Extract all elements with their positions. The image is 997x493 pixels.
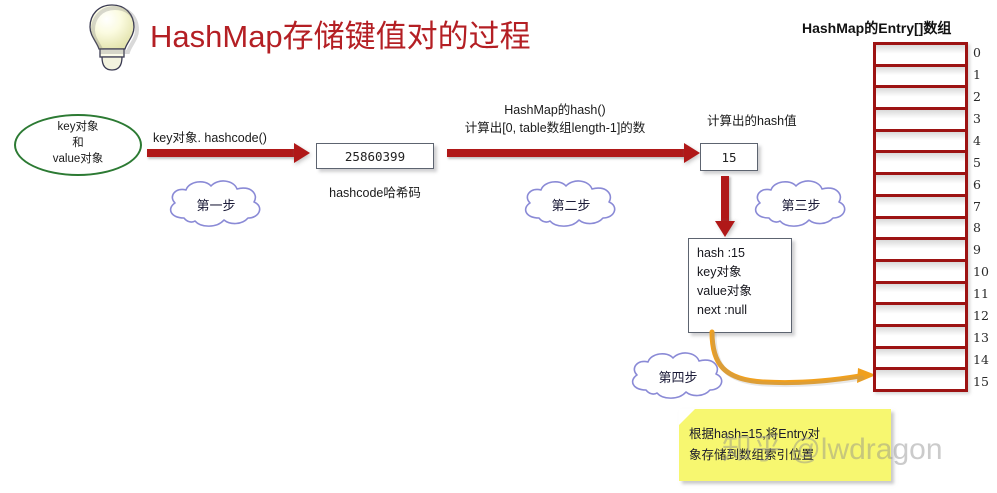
array-index: 8 [973, 217, 995, 239]
array-cell[interactable] [876, 110, 965, 132]
entry-line-key: key对象 [697, 263, 791, 282]
entry-line-value: value对象 [697, 282, 791, 301]
arrow-hashcode-shaft [147, 149, 295, 157]
array-cell[interactable] [876, 219, 965, 241]
array-cell[interactable] [876, 305, 965, 327]
arrow-entry-head [715, 221, 735, 237]
array-index: 5 [973, 151, 995, 173]
array-index: 15 [973, 370, 995, 392]
array-index: 0 [973, 42, 995, 64]
key-value-node-label: key对象 和 value对象 [14, 119, 142, 167]
kv-line-1: key对象 [14, 119, 142, 135]
diagram-canvas: HashMap存储键值对的过程 key对象 和 value对象 key对象. h… [0, 0, 997, 493]
array-index-column: 0 1 2 3 4 5 6 7 8 9 10 11 12 13 14 15 [973, 42, 995, 392]
step-3-label: 第三步 [745, 195, 857, 214]
array-cell[interactable] [876, 88, 965, 110]
step-2-label: 第二步 [515, 195, 627, 214]
step-3-cloud: 第三步 [745, 178, 857, 230]
sticky-note: 根据hash=15,将Entry对 象存储到数组索引位置 [679, 409, 891, 481]
array-index: 1 [973, 64, 995, 86]
array-index: 3 [973, 108, 995, 130]
kv-line-2: 和 [14, 135, 142, 151]
arrow-hash-shaft [447, 149, 685, 157]
arrow-store-to-array [660, 320, 890, 400]
array-cell[interactable] [876, 327, 965, 349]
entry-array [873, 42, 968, 392]
arrow-entry-shaft [721, 176, 729, 222]
array-cell[interactable] [876, 284, 965, 306]
array-index: 12 [973, 305, 995, 327]
hash-value-box: 15 [700, 143, 758, 171]
sticky-note-text: 根据hash=15,将Entry对 象存储到数组索引位置 [689, 424, 881, 466]
entry-line-hash: hash :15 [697, 244, 791, 263]
array-cell[interactable] [876, 153, 965, 175]
lightbulb-icon [82, 2, 144, 78]
array-index: 14 [973, 348, 995, 370]
arrow2-label-line2: 计算出[0, table数组length-1]的数 [410, 117, 700, 136]
entry-object-box: hash :15 key对象 value对象 next :null [688, 238, 792, 333]
hash-caption: 计算出的hash值 [707, 110, 797, 129]
sticky-line-2: 象存储到数组索引位置 [689, 445, 881, 466]
arrow-hash-head [684, 143, 700, 163]
array-cell[interactable] [876, 349, 965, 371]
arrow1-label: key对象. hashcode() [153, 127, 267, 146]
array-cell[interactable] [876, 240, 965, 262]
array-cell[interactable] [876, 262, 965, 284]
entry-line-next: next :null [697, 301, 791, 320]
array-title: HashMap的Entry[]数组 [802, 18, 951, 38]
array-index: 9 [973, 239, 995, 261]
array-cell[interactable] [876, 175, 965, 197]
sticky-note-fold [679, 409, 695, 425]
sticky-line-1: 根据hash=15,将Entry对 [689, 424, 881, 445]
array-cell[interactable] [876, 132, 965, 154]
array-index: 13 [973, 326, 995, 348]
array-index: 2 [973, 86, 995, 108]
array-cell[interactable] [876, 45, 965, 67]
array-cell[interactable] [876, 67, 965, 89]
array-cell[interactable] [876, 197, 965, 219]
step-2-cloud: 第二步 [515, 178, 627, 230]
arrow2-label-line1: HashMap的hash() [410, 99, 700, 118]
array-index: 10 [973, 261, 995, 283]
array-index: 11 [973, 283, 995, 305]
page-title: HashMap存储键值对的过程 [150, 11, 531, 56]
array-index: 6 [973, 173, 995, 195]
arrow-hashcode-head [294, 143, 310, 163]
hashcode-caption: hashcode哈希码 [316, 182, 434, 201]
hashcode-value-box: 25860399 [316, 143, 434, 169]
step-1-label: 第一步 [160, 195, 272, 214]
array-index: 7 [973, 195, 995, 217]
array-cell[interactable] [876, 370, 965, 389]
step-1-cloud: 第一步 [160, 178, 272, 230]
kv-line-3: value对象 [14, 151, 142, 167]
array-index: 4 [973, 130, 995, 152]
